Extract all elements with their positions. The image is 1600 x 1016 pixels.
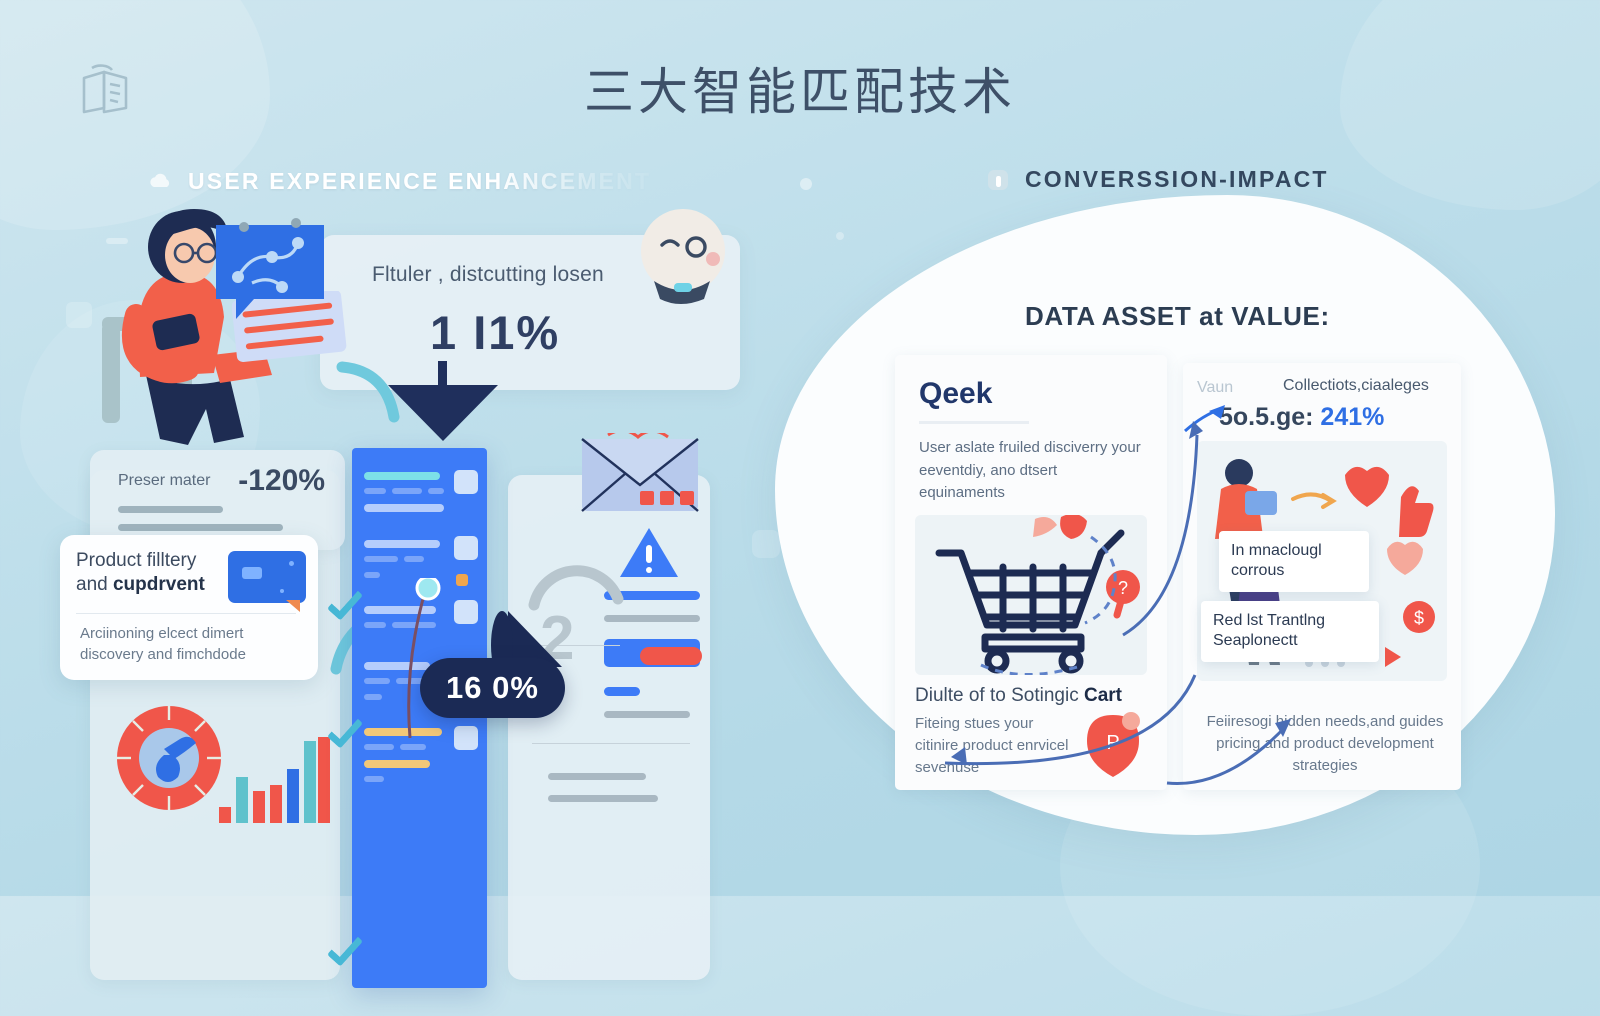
divider [919,421,1029,424]
chip-in-mnaclougl: In mnaclougl corrous [1219,531,1369,592]
preser-mater-label: Preser mater [118,472,210,490]
sparkle-dot [800,178,812,190]
warning-triangle-icon [618,525,680,581]
conversion-badge: 16 0% [420,658,565,718]
placeholder-bar [118,524,283,531]
panel-b-stat: 5o.5.ge: 241% [1219,403,1384,432]
section-label-right: CONVERSSION-IMPACT [985,166,1329,193]
chip-red-lst-trantlng: Red lst Trantlng Seaplonectt [1201,601,1379,662]
donut-chart [106,695,232,821]
page-title: 三大智能匹配技术 [0,52,1600,124]
panel-b-head: Collectiots,ciaaleges [1283,377,1429,395]
section-label-right-text: CONVERSSION-IMPACT [1025,166,1329,193]
callout-body: Arciinoning elcect dimert discovery and … [80,623,310,666]
bar-chart [215,715,335,825]
callout-heading: Product filltery and cupdrvent [76,549,226,597]
app-square-icon [985,167,1011,193]
callout-heading-prefix: and [76,574,113,595]
panel-b-stat-prefix: 5o.5.ge: [1219,403,1320,431]
section-label-left-text: USER EXPERIENCE ENHANCEMENT [188,168,651,195]
connector-arrow-up [1105,395,1215,645]
preser-mater-percent: -120% [238,464,325,498]
divider [76,613,296,614]
envelope-icon [578,433,702,523]
callout-heading-bold: cupdrvent [113,574,205,595]
cloud-icon [148,169,174,195]
qeek-heading: Qeek [919,377,992,411]
feed-list-panel [352,448,487,988]
right-composition: DATA ASSET at VALUE: Qeek User aslate fr… [775,195,1555,815]
section-label-left: USER EXPERIENCE ENHANCEMENT [148,168,651,195]
down-arrow-icon [388,385,498,441]
svg-text:$: $ [1414,608,1424,628]
placeholder-bar [118,506,223,513]
banner-text: Fltuler , distcutting losen [372,263,604,287]
callout-heading-plain: Product filltery [76,550,196,571]
card-chip-icon [228,551,306,603]
mascot-face-icon [628,203,738,313]
connector-arrow-right [1161,695,1301,791]
left-composition: Fltuler , distcutting losen A 1 I1% Pres… [60,195,760,815]
product-filltery-callout: Product filltery and cupdrvent Arciinoni… [60,535,318,680]
network-bubble-icon [210,217,330,327]
right-panel-title: DATA ASSET at VALUE: [1025,301,1330,332]
panel-b-stat-value: 241% [1320,403,1384,431]
banner-percent: 1 I1% [430,305,560,360]
